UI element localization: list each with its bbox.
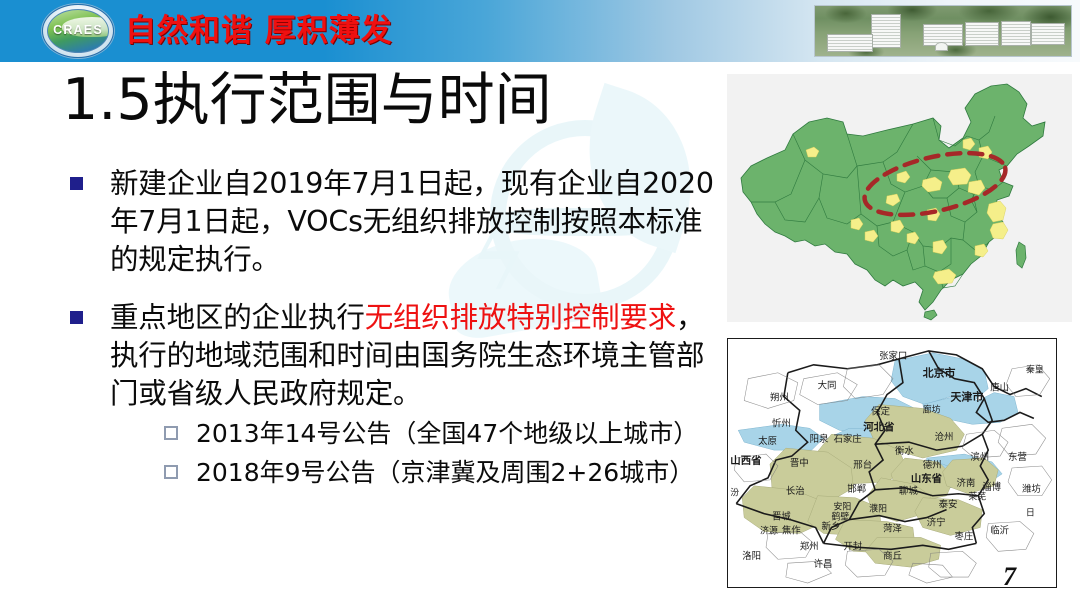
photo-building bbox=[1001, 21, 1031, 46]
label-qinhuangdao: 秦皇 bbox=[1026, 364, 1044, 376]
label-jining: 济宁 bbox=[927, 516, 946, 528]
label-laiwu: 莱芜 bbox=[968, 491, 986, 503]
label-puyang: 濮阳 bbox=[869, 503, 887, 515]
label-heze: 菏泽 bbox=[883, 523, 902, 534]
label-linyi: 临沂 bbox=[990, 524, 1009, 536]
label-anyang: 安阳 bbox=[833, 501, 851, 513]
label-shangqiu: 商丘 bbox=[883, 550, 902, 562]
bullet-2-segment-1: 重点地区的企业执行 bbox=[110, 301, 365, 334]
label-jiaozuo: 焦作 bbox=[782, 524, 801, 536]
label-rizhao: 日 bbox=[1026, 508, 1035, 519]
page-number: 7 bbox=[1003, 562, 1016, 592]
label-changzhi: 长治 bbox=[786, 485, 805, 497]
campus-aerial-photo bbox=[814, 5, 1072, 57]
bullet-text-2: 重点地区的企业执行无组织排放特别控制要求，执行的地域范围和时间由国务院生态环境主… bbox=[110, 299, 722, 413]
label-shandong-province: 山东省 bbox=[911, 472, 943, 485]
sub-bullet-text-1: 2013年14号公告（全国47个地级以上城市） bbox=[196, 419, 698, 448]
label-shanxi-province: 山西省 bbox=[730, 454, 762, 467]
label-shuozhou: 朔州 bbox=[770, 392, 789, 404]
label-yangquan: 阳泉 bbox=[810, 433, 829, 445]
label-taian: 泰安 bbox=[939, 499, 958, 511]
filled-square-bullet-icon bbox=[70, 311, 83, 324]
bullet-text-1: 新建企业自2019年7月1日起，现有企业自2020年7月1日起，VOCs无组织排… bbox=[110, 165, 722, 279]
label-tangshan: 唐山 bbox=[990, 382, 1009, 394]
page-title: 1.5执行范围与时间 bbox=[62, 64, 552, 136]
label-linfen: 汾 bbox=[730, 488, 739, 499]
slide-body-content: 新建企业自2019年7月1日起，现有企业自2020年7月1日起，VOCs无组织排… bbox=[62, 165, 722, 513]
hollow-square-bullet-icon bbox=[164, 426, 178, 440]
sub-bullet-text-2: 2018年9号公告（京津冀及周围2+26城市） bbox=[196, 458, 694, 487]
label-kaifeng: 开封 bbox=[843, 540, 862, 552]
region-map-svg: 张家口 北京市 唐山 天津市 秦皇 大同 朔州 忻州 保定 廊坊 太原 阳泉 石… bbox=[728, 339, 1056, 587]
photo-building bbox=[1031, 23, 1065, 45]
label-jiyuan: 济源 bbox=[760, 524, 778, 536]
label-baoding: 保定 bbox=[871, 405, 890, 417]
label-binzhou: 滨州 bbox=[970, 451, 989, 463]
bullet-1-segment-1: 新建企业自2019年7月1日起，现有企业自2020年7月1日起，VOCs无组织排… bbox=[110, 167, 714, 276]
label-xingtai: 邢台 bbox=[853, 459, 872, 471]
label-zhangjiakou: 张家口 bbox=[879, 350, 907, 362]
label-xinxiang: 新乡 bbox=[822, 520, 841, 532]
bullet-item-1: 新建企业自2019年7月1日起，现有企业自2020年7月1日起，VOCs无组织排… bbox=[62, 165, 722, 279]
label-hengshui: 衡水 bbox=[895, 445, 914, 457]
label-langfang: 廊坊 bbox=[923, 403, 941, 415]
hollow-square-bullet-icon bbox=[164, 465, 178, 479]
label-shijiazhuang: 石家庄 bbox=[833, 433, 861, 445]
label-beijing: 北京市 bbox=[923, 366, 956, 380]
label-jinzhong: 晋中 bbox=[790, 457, 809, 469]
photo-building bbox=[827, 34, 873, 52]
label-xuchang: 许昌 bbox=[814, 558, 833, 570]
photo-building bbox=[965, 22, 999, 46]
filled-square-bullet-icon bbox=[70, 177, 83, 190]
china-national-map bbox=[727, 74, 1072, 322]
label-tianjin: 天津市 bbox=[951, 390, 984, 404]
label-taiyuan: 太原 bbox=[758, 435, 777, 447]
sub-bullet-list: 2013年14号公告（全国47个地级以上城市） 2018年9号公告（京津冀及周围… bbox=[110, 417, 722, 493]
label-zhengzhou: 郑州 bbox=[800, 540, 819, 552]
bullet-item-2: 重点地区的企业执行无组织排放特别控制要求，执行的地域范围和时间由国务院生态环境主… bbox=[62, 299, 722, 493]
label-xinzhou: 忻州 bbox=[772, 417, 791, 429]
label-zibo: 淄博 bbox=[982, 481, 1001, 493]
china-map-svg bbox=[727, 74, 1072, 322]
label-cangzhou: 沧州 bbox=[935, 431, 954, 443]
bullet-2-highlight-text: 无组织排放特别控制要求 bbox=[365, 301, 676, 334]
label-hebei-province: 河北省 bbox=[863, 420, 895, 433]
label-dezhou: 德州 bbox=[923, 459, 942, 471]
header-slogan: 自然和谐 厚积薄发 bbox=[125, 10, 393, 52]
label-handan: 邯郸 bbox=[847, 483, 866, 495]
label-liaocheng: 聊城 bbox=[899, 485, 918, 497]
sub-bullet-item-1: 2013年14号公告（全国47个地级以上城市） bbox=[162, 417, 722, 454]
photo-dome bbox=[935, 42, 948, 51]
label-dongying: 东营 bbox=[1008, 451, 1027, 463]
label-weifang: 潍坊 bbox=[1022, 483, 1041, 495]
label-zaozhuang: 枣庄 bbox=[954, 530, 973, 542]
label-luoyang: 洛阳 bbox=[742, 550, 761, 562]
sub-bullet-item-2: 2018年9号公告（京津冀及周围2+26城市） bbox=[162, 456, 722, 493]
label-jincheng: 晋城 bbox=[772, 512, 791, 523]
logo-acronym-text: CRAES bbox=[34, 23, 122, 37]
label-datong: 大同 bbox=[818, 380, 837, 392]
photo-building bbox=[871, 14, 901, 48]
jingjinji-2plus26-map: 张家口 北京市 唐山 天津市 秦皇 大同 朔州 忻州 保定 廊坊 太原 阳泉 石… bbox=[727, 338, 1057, 588]
label-jinan: 济南 bbox=[956, 477, 975, 489]
slide-header-bar: CRAES 自然和谐 厚积薄发 bbox=[0, 0, 1080, 62]
craes-logo: CRAES bbox=[34, 3, 122, 59]
